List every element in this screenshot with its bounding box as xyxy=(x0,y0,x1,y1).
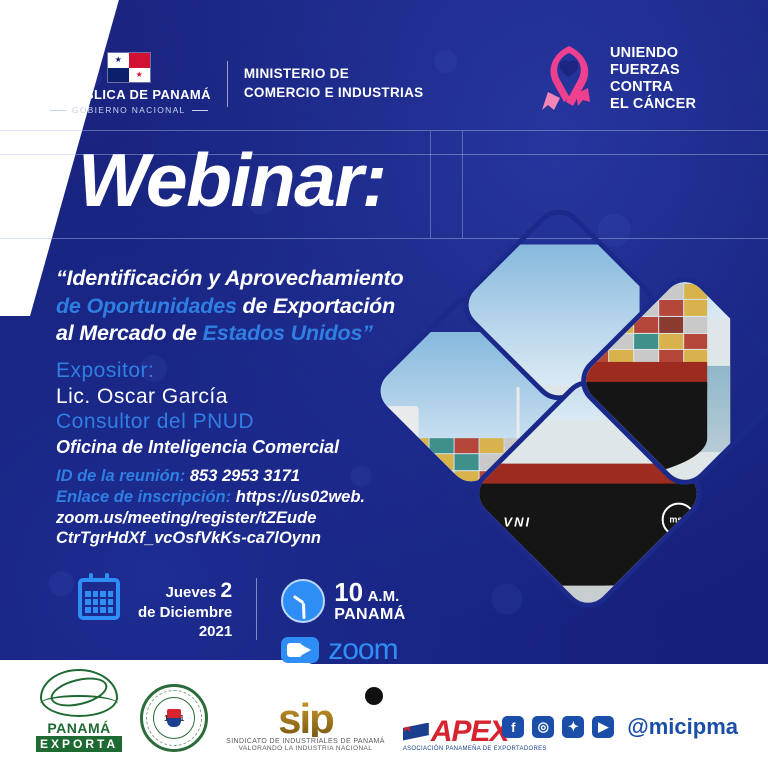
speaker-label: Expositor: xyxy=(56,358,456,384)
footer-bar: PANAMÁ EXPORTA 19 51 sip SINDICATO DE IN… xyxy=(0,664,768,768)
ministry-name: MINISTERIO DE COMERCIO E INDUSTRIAS xyxy=(244,65,424,101)
social-handle: @micipma xyxy=(627,714,738,740)
event-year: 2021 xyxy=(138,623,232,642)
divider-line-vertical xyxy=(462,131,463,238)
subtitle-line-2: de Exportación xyxy=(237,294,395,318)
campaign-text: UNIENDO FUERZAS CONTRA EL CÁNCER xyxy=(610,45,696,113)
registration-link-line-1: https://us02web. xyxy=(236,488,365,506)
subtitle-line-3: al Mercado de xyxy=(56,321,203,345)
social-media-row: f ◎ ✦ ▶ @micipma xyxy=(502,714,738,740)
divider-line-vertical xyxy=(430,131,431,238)
sponsor-sub: EXPORTA xyxy=(36,736,122,752)
speaker-role-prefix: Consultor del xyxy=(56,410,193,433)
ministry-line-2: COMERCIO E INDUSTRIAS xyxy=(244,84,424,102)
event-meridiem: A.M. xyxy=(368,588,400,605)
campaign-line-3: CONTRA xyxy=(610,79,696,96)
registration-link-line-3: CtrTgrHdXf_vcOsfVkKs-ca7lOynn xyxy=(56,529,321,547)
campaign-line-4: EL CÁNCER xyxy=(610,96,696,113)
registration-link-line-2: zoom.us/meeting/register/tZEude xyxy=(56,509,316,527)
clock-icon xyxy=(281,579,325,623)
flag-star-blue: ★ xyxy=(115,56,122,64)
facebook-icon[interactable]: f xyxy=(502,716,524,738)
meeting-info: ID de la reunión: 853 2953 3171 Enlace d… xyxy=(56,466,406,549)
apex-flag-icon xyxy=(403,723,429,741)
webinar-poster: ★ ★ REPÚBLICA DE PANAMÁ GOBIERNO NACIONA… xyxy=(0,0,768,768)
divider-line xyxy=(0,238,768,239)
sip-tagline: VALORANDO LA INDUSTRIA NACIONAL xyxy=(226,745,385,752)
cancer-campaign-logo: UNIENDO FUERZAS CONTRA EL CÁNCER xyxy=(540,40,696,118)
panama-exporta-globe-icon xyxy=(40,669,118,717)
meeting-id-label: ID de la reunión: xyxy=(56,467,190,485)
ship-name-2: VNI xyxy=(503,515,531,530)
youtube-icon[interactable]: ▶ xyxy=(592,716,614,738)
event-month: de Diciembre xyxy=(138,604,232,623)
government-header: ★ ★ REPÚBLICA DE PANAMÁ GOBIERNO NACIONA… xyxy=(0,52,470,115)
apex-subtitle: ASOCIACIÓN PANAMEÑA DE EXPORTADORES xyxy=(403,746,547,752)
header-divider xyxy=(227,61,228,107)
panama-flag-icon: ★ ★ xyxy=(107,52,151,83)
country-name: REPÚBLICA DE PANAMÁ xyxy=(47,87,211,102)
ministry-line-1: MINISTERIO DE xyxy=(244,65,424,83)
event-timezone: PANAMÁ xyxy=(334,606,405,623)
sponsor-logos: PANAMÁ EXPORTA 19 51 sip SINDICATO DE IN… xyxy=(36,669,547,752)
event-time: 10 A.M. PANAMÁ xyxy=(334,578,405,623)
info-divider xyxy=(256,578,257,640)
twitter-icon[interactable]: ✦ xyxy=(562,716,584,738)
speaker-block: Expositor: Lic. Oscar García Consultor d… xyxy=(56,358,456,459)
flag-star-red: ★ xyxy=(136,71,143,79)
government-logo: ★ ★ REPÚBLICA DE PANAMÁ GOBIERNO NACIONA… xyxy=(47,52,211,115)
sponsor-name: PANAMÁ xyxy=(36,720,122,736)
campaign-line-2: FUERZAS xyxy=(610,62,696,79)
government-subtitle: GOBIERNO NACIONAL xyxy=(50,105,208,115)
event-details-row: Jueves 2 de Diciembre 2021 10 A.M. PANAM… xyxy=(78,578,406,667)
event-day-name: Jueves xyxy=(165,584,216,601)
campaign-line-1: UNIENDO xyxy=(610,45,696,62)
zoom-logo: zoom xyxy=(281,633,405,667)
meeting-id-value: 853 2953 3171 xyxy=(190,467,300,485)
event-hour: 10 xyxy=(334,577,363,607)
camara-comercio-chiriqui-crest-icon: 19 51 xyxy=(140,684,208,752)
subtitle-highlight-2: Estados Unidos” xyxy=(203,321,373,345)
speaker-organization: PNUD xyxy=(193,410,255,433)
calendar-icon xyxy=(78,578,120,620)
page-title: Webinar: xyxy=(78,143,385,218)
zoom-camera-icon xyxy=(281,637,319,663)
zoom-label: zoom xyxy=(328,633,397,667)
sip-wordmark: sip xyxy=(226,701,385,737)
subtitle-highlight-1: de Oportunidades xyxy=(56,294,237,318)
divider-line xyxy=(0,130,768,131)
instagram-icon[interactable]: ◎ xyxy=(532,716,554,738)
event-day-number: 2 xyxy=(221,579,233,602)
speaker-office: Oficina de Inteligencia Comercial xyxy=(56,437,456,459)
speaker-role: Consultor del PNUD xyxy=(56,409,456,435)
speaker-name: Lic. Oscar García xyxy=(56,384,456,410)
registration-link-label: Enlace de inscripción: xyxy=(56,488,236,506)
sip-logo-icon: sip SINDICATO DE INDUSTRIALES DE PANAMÁ … xyxy=(226,701,385,752)
event-date: Jueves 2 de Diciembre 2021 xyxy=(138,578,232,642)
apex-wordmark: APEX xyxy=(431,718,509,745)
subtitle-line-1: “Identificación y Aprovechamiento xyxy=(56,266,403,290)
time-platform-block: 10 A.M. PANAMÁ zoom xyxy=(281,578,405,667)
webinar-subtitle: “Identificación y Aprovechamiento de Opo… xyxy=(56,265,456,348)
pink-ribbon-heart-icon xyxy=(540,40,598,118)
sip-subtitle: SINDICATO DE INDUSTRIALES DE PANAMÁ xyxy=(226,738,385,745)
panama-exporta-logo: PANAMÁ EXPORTA xyxy=(36,669,122,752)
msc-badge: msc xyxy=(661,503,695,537)
